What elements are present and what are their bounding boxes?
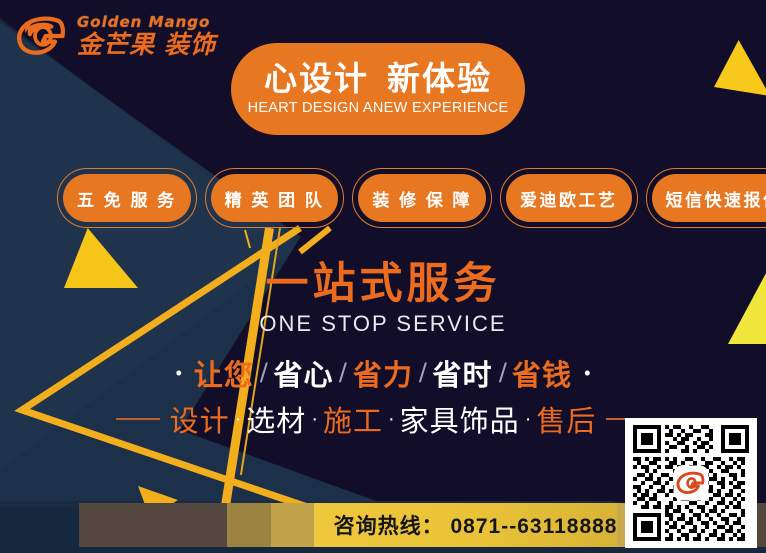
feature-pill-2[interactable]: 装 修 保 障 — [352, 168, 492, 228]
benefit-item-3: 省时 — [429, 352, 497, 394]
golden-mango-logo-icon — [14, 14, 70, 58]
hero-title-right: 新体验 — [387, 60, 492, 97]
services-separator: · — [235, 408, 242, 431]
feature-pill-label: 装 修 保 障 — [372, 186, 472, 211]
hotline-bar-segment-bronze — [227, 503, 272, 547]
services-rule-left — [116, 418, 160, 420]
service-item-1: 选材 — [246, 398, 306, 440]
service-item-0: 设计 — [170, 398, 230, 440]
feature-pill-list: 五 免 服 务 精 英 团 队 装 修 保 障 爱迪欧工艺 短信快速报价 — [57, 168, 766, 228]
hotline-bar-segment-gold-mid — [271, 503, 313, 547]
feature-pill-label: 爱迪欧工艺 — [520, 186, 618, 211]
service-item-4: 售后 — [536, 398, 596, 440]
feature-pill-0[interactable]: 五 免 服 务 — [57, 168, 197, 228]
hotline-bar-segment-dark — [79, 503, 227, 547]
brand-chinese-main: 金芒果 — [77, 31, 155, 59]
brand-logo[interactable]: Golden Mango 金芒果装饰 — [14, 14, 216, 58]
hero-title: 心设计新体验 — [264, 62, 492, 95]
feature-pill-label: 五 免 服 务 — [77, 186, 177, 211]
benefit-item-2: 省力 — [349, 352, 417, 394]
feature-pill-3[interactable]: 爱迪欧工艺 — [500, 168, 638, 228]
brand-chinese-suffix: 装饰 — [164, 31, 216, 59]
feature-pill-label: 精 英 团 队 — [225, 186, 325, 211]
benefits-row: • 让您 / 省心 / 省力 / 省时 / 省钱 • — [0, 352, 766, 394]
feature-pill-1[interactable]: 精 英 团 队 — [205, 168, 345, 228]
services-separator: · — [388, 408, 395, 431]
hero-title-left: 心设计 — [264, 60, 369, 97]
service-item-2: 施工 — [323, 398, 383, 440]
benefits-lead-dot: • — [176, 364, 182, 382]
qr-center-logo — [675, 467, 707, 499]
feature-pill-label: 短信快速报价 — [666, 186, 766, 211]
benefits-trail-dot: • — [584, 364, 590, 382]
golden-mango-logo-icon — [675, 467, 707, 499]
feature-pill-4[interactable]: 短信快速报价 — [646, 168, 766, 228]
benefits-separator: / — [339, 358, 348, 389]
benefit-item-0: 让您 — [190, 352, 258, 394]
benefit-item-1: 省心 — [269, 352, 337, 394]
hotline-bar-gold-panel: 咨询热线： 0871--63118888 — [314, 503, 618, 547]
benefit-item-4: 省钱 — [508, 352, 576, 394]
hero-banner: 心设计新体验 HEART DESIGN ANEW EXPERIENCE — [231, 43, 525, 135]
benefits-separator: / — [498, 358, 507, 389]
services-separator: · — [311, 408, 318, 431]
brand-english-name: Golden Mango — [77, 15, 216, 30]
benefits-separator: / — [418, 358, 427, 389]
benefits-separator: / — [259, 358, 268, 389]
hotline-text: 咨询热线： 0871--63118888 — [334, 510, 618, 540]
qr-code[interactable] — [625, 418, 757, 548]
promo-banner: Golden Mango 金芒果装饰 心设计新体验 HEART DESIGN A… — [0, 0, 766, 553]
hero-subtitle: HEART DESIGN ANEW EXPERIENCE — [248, 100, 509, 116]
service-item-3: 家具饰品 — [400, 398, 520, 440]
brand-chinese-name: 金芒果装饰 — [77, 33, 216, 58]
services-separator: · — [525, 408, 532, 431]
